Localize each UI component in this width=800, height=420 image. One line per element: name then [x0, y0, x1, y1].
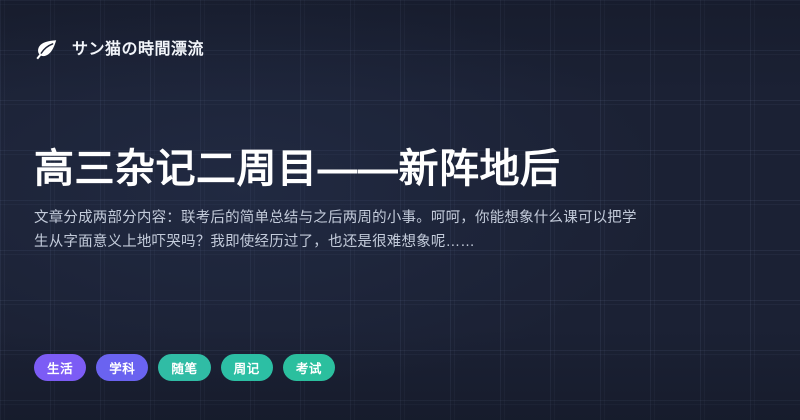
tag-label: 考试 [296, 358, 322, 377]
site-branding[interactable]: サン猫の時間漂流 [34, 37, 204, 63]
tag-item[interactable]: 学科 [96, 354, 148, 381]
post-hero-banner: サン猫の時間漂流 高三杂记二周目——新阵地后 文章分成两部分内容：联考后的简单总… [0, 0, 800, 420]
tag-item[interactable]: 周记 [221, 354, 273, 381]
leaf-icon [34, 37, 60, 63]
post-description: 文章分成两部分内容：联考后的简单总结与之后两周的小事。呵呵，你能想象什么课可以把… [34, 206, 650, 254]
tag-item[interactable]: 生活 [34, 354, 86, 381]
tag-label: 生活 [47, 358, 73, 377]
hero-content: サン猫の時間漂流 高三杂记二周目——新阵地后 文章分成两部分内容：联考后的简单总… [0, 0, 800, 420]
tag-label: 随笔 [171, 358, 197, 377]
site-name: サン猫の時間漂流 [72, 42, 204, 58]
tag-label: 周记 [234, 358, 260, 377]
tag-label: 学科 [109, 358, 135, 377]
tag-list: 生活 学科 随笔 周记 考试 [34, 354, 335, 381]
tag-item[interactable]: 考试 [283, 354, 335, 381]
post-title: 高三杂记二周目——新阵地后 [34, 146, 561, 192]
tag-item[interactable]: 随笔 [158, 354, 210, 381]
